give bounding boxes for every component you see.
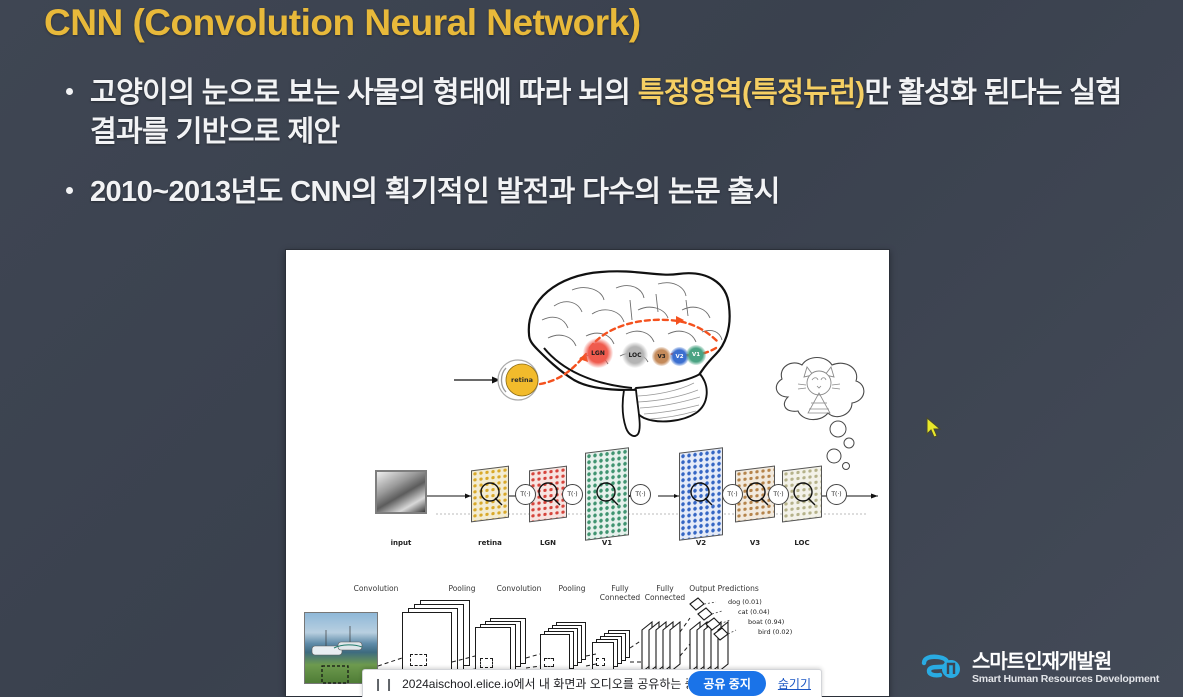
bullet-2-pre: 2010~2013년도 CNN의 획기적인 발전과 다수의 논문 출시 — [90, 176, 780, 208]
stage-label-v1: V1 — [602, 539, 612, 547]
svg-text:retina: retina — [511, 376, 533, 384]
bullet-list: 고양이의 눈으로 보는 사물의 형태에 따라 뇌의 특정영역(특정뉴런)만 활성… — [62, 74, 1152, 224]
screen-share-notification-bar: ❙❙ 2024aischool.elice.io에서 내 화면과 오디오를 공유… — [362, 669, 822, 697]
region-label: V2 — [675, 354, 683, 360]
input-image-thumb — [375, 470, 427, 514]
pause-icon[interactable]: ❙❙ — [373, 677, 395, 691]
operator-node: T(·) — [722, 484, 743, 505]
bullet-1-highlight: 특정영역(특정뉴런) — [638, 77, 865, 109]
brain-region-loc: LOC — [622, 342, 648, 368]
stage-label-retina: retina — [478, 539, 502, 547]
stage-label-input: input — [391, 539, 412, 547]
operator-label: T(·) — [520, 491, 530, 498]
mouse-cursor — [926, 417, 944, 441]
region-label: LGN — [591, 350, 605, 357]
stage-label-loc: LOC — [794, 539, 809, 547]
operator-label: T(·) — [831, 491, 841, 498]
share-status-text: 2024aischool.elice.io에서 내 화면과 오디오를 공유하는 … — [402, 675, 688, 692]
operator-node: T(·) — [826, 484, 847, 505]
brain-region-lgn: LGN — [583, 338, 613, 368]
organization-logo: 스마트인재개발원 Smart Human Resources Developme… — [920, 652, 1159, 685]
hide-bar-link[interactable]: 숨기기 — [778, 675, 811, 692]
operator-label: T(·) — [727, 491, 737, 498]
logo-english-name: Smart Human Resources Development — [972, 673, 1159, 685]
stage-label-lgn: LGN — [540, 539, 556, 547]
operator-label: T(·) — [773, 491, 783, 498]
operator-node: T(·) — [768, 484, 789, 505]
brain-pathway-figure: retina LGN LOC V3 — [286, 250, 890, 450]
brain-region-v1: V1 — [686, 345, 706, 365]
region-label: V3 — [657, 354, 665, 360]
stage-label-v3: V3 — [750, 539, 760, 547]
logo-korean-name: 스마트인재개발원 — [972, 652, 1159, 673]
bullet-dot-icon — [66, 88, 73, 95]
operator-node: T(·) — [515, 484, 536, 505]
loc-thought-bubbles-icon — [818, 446, 858, 476]
brain-region-v3: V3 — [652, 347, 671, 366]
bullet-dot-icon — [66, 187, 73, 194]
stop-sharing-button[interactable]: 공유 중지 — [688, 671, 766, 696]
region-label: LOC — [628, 352, 641, 359]
bullet-item: 2010~2013년도 CNN의 획기적인 발전과 다수의 논문 출시 — [62, 173, 1152, 212]
stage-label-v2: V2 — [696, 539, 706, 547]
sin-logo-icon — [920, 654, 964, 684]
operator-node: T(·) — [562, 484, 583, 505]
figure-panel: retina LGN LOC V3 — [285, 249, 890, 697]
thought-bubble-cat-icon — [766, 355, 876, 450]
operator-node: T(·) — [630, 484, 651, 505]
operator-label: T(·) — [567, 491, 577, 498]
slide-title: CNN (Convolution Neural Network) — [44, 2, 641, 44]
bullet-item: 고양이의 눈으로 보는 사물의 형태에 따라 뇌의 특정영역(특정뉴런)만 활성… — [62, 74, 1152, 152]
presentation-slide: CNN (Convolution Neural Network) 고양이의 눈으… — [0, 0, 1183, 697]
visual-pipeline-figure: T(·) T(·) T(·) T(·) T(·) T(·) input reti… — [286, 446, 890, 556]
operator-label: T(·) — [635, 491, 645, 498]
region-label: V1 — [692, 352, 700, 358]
bullet-1-pre: 고양이의 눈으로 보는 사물의 형태에 따라 뇌의 — [90, 77, 638, 109]
